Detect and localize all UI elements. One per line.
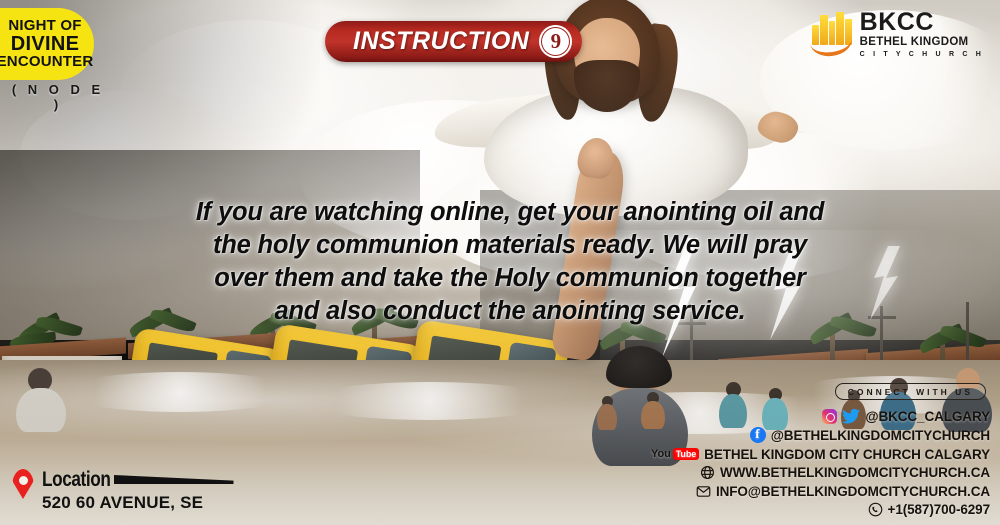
logo-bar <box>820 15 828 45</box>
website-row[interactable]: WWW.BETHELKINGDOMCITYCHURCH.CA <box>651 465 990 480</box>
node-acronym: ( N O D E ) <box>6 82 110 112</box>
location-rule <box>114 475 234 484</box>
youtube-icon[interactable]: You Tube <box>651 448 699 460</box>
youtube-tube-text: Tube <box>673 448 699 460</box>
phone-number: +1(587)700-6297 <box>888 502 990 517</box>
youtube-you-text: You <box>651 448 671 460</box>
phone-row[interactable]: +1(587)700-6297 <box>651 502 990 517</box>
poster-canvas: NIGHT OF DIVINE ENCOUNTER ( N O D E ) IN… <box>0 0 1000 525</box>
connect-heading: CONNECT WITH US <box>835 383 986 400</box>
globe-icon[interactable] <box>700 465 715 480</box>
map-pin-icon <box>12 469 34 499</box>
mail-icon[interactable] <box>696 484 711 499</box>
bkcc-subtagline: C I T Y C H U R C H <box>860 51 984 58</box>
connect-block: CONNECT WITH US @BKCC_CALGARY @BETHELKIN… <box>651 382 990 518</box>
bkcc-tagline: BETHEL KINGDOM <box>860 37 984 49</box>
node-line-3: ENCOUNTER <box>0 54 93 69</box>
twitter-handle: @BKCC_CALGARY <box>865 409 990 424</box>
bkcc-building-icon <box>811 12 853 56</box>
node-line-2: DIVINE <box>11 34 79 55</box>
pin-hole <box>19 476 28 485</box>
logo-bar <box>812 25 819 45</box>
location-block: Location 520 60 AVENUE, SE <box>12 469 234 511</box>
bkcc-wordmark: BKCC BETHEL KINGDOM C I T Y C H U R C H <box>860 10 984 58</box>
email-address: INFO@BETHELKINGDOMCITYCHURCH.CA <box>716 484 990 499</box>
email-row[interactable]: INFO@BETHELKINGDOMCITYCHURCH.CA <box>651 484 990 499</box>
person-body <box>16 388 66 432</box>
water-foam <box>300 382 560 420</box>
instruction-label: INSTRUCTION <box>353 27 529 56</box>
crowd-person <box>596 396 618 428</box>
social-row-twitter[interactable]: @BKCC_CALGARY <box>651 409 990 424</box>
node-line-1: NIGHT OF <box>8 18 81 33</box>
social-row-facebook[interactable]: @BETHELKINGDOMCITYCHURCH <box>651 427 990 443</box>
location-text: Location 520 60 AVENUE, SE <box>42 469 234 511</box>
location-label-row: Location <box>42 469 234 490</box>
instruction-message: If you are watching online, get your ano… <box>190 196 830 329</box>
location-address: 520 60 AVENUE, SE <box>42 494 234 511</box>
facebook-icon[interactable] <box>750 427 766 443</box>
twitter-icon[interactable] <box>842 409 860 424</box>
youtube-channel: BETHEL KINGDOM CITY CHURCH CALGARY <box>704 447 990 462</box>
location-label: Location <box>42 469 110 490</box>
water-foam <box>60 372 300 412</box>
bkcc-logo: BKCC BETHEL KINGDOM C I T Y C H U R C H <box>811 10 984 58</box>
phone-icon[interactable] <box>868 502 883 517</box>
instagram-icon[interactable] <box>822 409 837 424</box>
crowd-person <box>14 368 68 426</box>
instruction-banner: INSTRUCTION 9 <box>325 21 582 62</box>
node-badge: NIGHT OF DIVINE ENCOUNTER <box>0 8 94 80</box>
social-row-youtube[interactable]: You Tube BETHEL KINGDOM CITY CHURCH CALG… <box>651 447 990 462</box>
facebook-handle: @BETHELKINGDOMCITYCHURCH <box>771 428 990 443</box>
website-url: WWW.BETHELKINGDOMCITYCHURCH.CA <box>720 465 990 480</box>
instruction-number-badge: 9 <box>539 25 572 58</box>
person-body <box>597 404 617 430</box>
bkcc-name: BKCC <box>860 10 984 35</box>
